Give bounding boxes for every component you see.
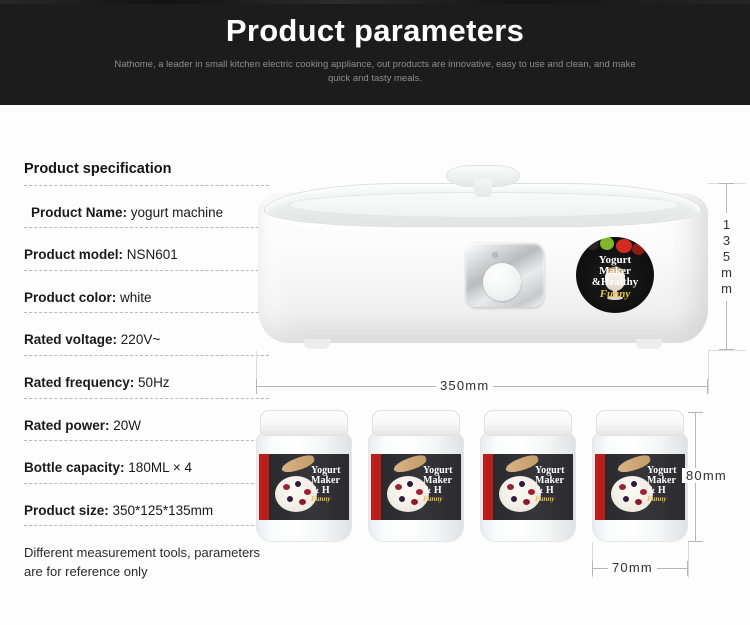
specification-list: Product specification Product Name: yogu… (24, 160, 269, 582)
spec-divider (24, 185, 269, 186)
sticker-berry-icon (586, 239, 599, 250)
dim-ext-bottom (708, 350, 746, 351)
spec-value-bottle-capacity: 180ML × 4 (128, 460, 192, 475)
spec-label-bottle-capacity: Bottle capacity: (24, 460, 125, 475)
spec-value-rated-frequency: 50Hz (138, 375, 170, 390)
jar-label-text: Yogurt Maker & H Funny (311, 466, 340, 503)
spec-label-product-color: Product color: (24, 290, 116, 305)
jar-label-berry-icon (523, 499, 530, 505)
spec-divider (24, 398, 269, 399)
jar-label-line-4: Funny (423, 496, 452, 503)
jar-label-berry-icon (399, 496, 405, 502)
dim-label-jar-height: 80mm (682, 468, 731, 483)
spec-row-rated-frequency: Rated frequency: 50Hz (24, 374, 269, 399)
spec-row-product-size: Product size: 350*125*135mm (24, 502, 269, 527)
product-parameters-page: Product parameters Nathome, a leader in … (0, 0, 750, 625)
jar-label-text: Yogurt Maker & H Funny (423, 466, 452, 503)
jar-label-berry-icon (507, 484, 514, 490)
spec-heading: Product specification (24, 160, 269, 179)
dim-label-unit-height: 135mm (719, 213, 734, 301)
spec-label-product-name: Product Name: (31, 205, 127, 220)
sticker-line-3: &Healthy (576, 277, 654, 288)
sticker-kiwi-icon (600, 237, 614, 250)
page-header: Product parameters Nathome, a leader in … (0, 0, 750, 105)
yogurt-maker-unit: Yogurt Maker &Healthy Funny (258, 165, 708, 360)
jar-lid (260, 410, 348, 436)
dim-tick-right (707, 379, 708, 394)
control-panel[interactable] (466, 243, 544, 307)
jar-label-berry-icon (411, 499, 418, 505)
jar-label-berry-icon (299, 499, 306, 505)
unit-foot-left (304, 339, 330, 349)
dim-ext-jar-right (688, 542, 689, 578)
sticker-text: Yogurt Maker &Healthy Funny (576, 255, 654, 300)
unit-foot-right (636, 339, 662, 349)
jar-label-berry-icon (304, 489, 311, 495)
dim-tick-left (256, 379, 257, 394)
dim-tick-top (719, 183, 734, 184)
jar-label-berry-icon (519, 481, 525, 487)
yogurt-jar: Yogurt Maker & H Funny (480, 410, 576, 548)
yogurt-jar: Yogurt Maker & H Funny (256, 410, 352, 548)
product-image-stage: Yogurt Maker &Healthy Funny 135mm 350mm (240, 105, 750, 625)
product-sticker: Yogurt Maker &Healthy Funny (576, 237, 654, 313)
dim-tick-jar-top (688, 412, 703, 413)
spec-row-product-model: Product model: NSN601 (24, 246, 269, 271)
jar-label-text: Yogurt Maker & H Funny (535, 466, 564, 503)
jar-lid (372, 410, 460, 436)
spec-label-rated-power: Rated power: (24, 418, 110, 433)
jar-label-berry-icon (295, 481, 301, 487)
power-indicator-led (492, 252, 498, 258)
power-button[interactable] (483, 263, 521, 301)
yogurt-jar: Yogurt Maker & H Funny (592, 410, 688, 548)
spec-row-product-color: Product color: white (24, 289, 269, 314)
spec-row-product-name: Product Name: yogurt machine (24, 204, 269, 229)
jar-label: Yogurt Maker & H Funny (371, 454, 461, 520)
spec-label-product-size: Product size: (24, 503, 109, 518)
spec-value-product-color: white (120, 290, 152, 305)
spec-label-rated-frequency: Rated frequency: (24, 375, 134, 390)
jar-label-berry-icon (640, 489, 647, 495)
jar-label-berry-icon (528, 489, 535, 495)
spec-label-product-model: Product model: (24, 247, 123, 262)
dim-tick-jar-bottom (688, 541, 703, 542)
jar-lid (484, 410, 572, 436)
dim-tick-jar-right (687, 561, 688, 576)
dim-label-unit-width: 350mm (436, 378, 493, 393)
spec-divider (24, 227, 269, 228)
page-subtitle: Nathome, a leader in small kitchen elect… (105, 58, 645, 86)
spec-row-bottle-capacity: Bottle capacity: 180ML × 4 (24, 459, 269, 484)
jar-label: Yogurt Maker & H Funny (483, 454, 573, 520)
spec-divider (24, 525, 269, 526)
unit-lid-knob-stem (474, 179, 492, 197)
spec-heading-row: Product specification (24, 160, 269, 186)
spec-label-rated-voltage: Rated voltage: (24, 332, 117, 347)
jar-label-berry-icon (511, 496, 517, 502)
jar-label-line-4: Funny (647, 496, 676, 503)
jar-label-berry-icon (623, 496, 629, 502)
jar-label-berry-icon (395, 484, 402, 490)
spec-value-rated-power: 20W (113, 418, 141, 433)
spec-divider (24, 440, 269, 441)
jar-label-line-4: Funny (535, 496, 564, 503)
dim-ext-right (708, 351, 709, 393)
spec-value-product-size: 350*125*135mm (113, 503, 214, 518)
spec-divider (24, 355, 269, 356)
jar-label: Yogurt Maker & H Funny (595, 454, 685, 520)
jar-label-berry-icon (631, 481, 637, 487)
spec-row-rated-voltage: Rated voltage: 220V~ (24, 331, 269, 356)
jar-label-berry-icon (635, 499, 642, 505)
spec-divider (24, 270, 269, 271)
jar-label-berry-icon (416, 489, 423, 495)
jar-label-berry-icon (287, 496, 293, 502)
jar-lid (596, 410, 684, 436)
spec-disclaimer-note: Different measurement tools, parameters … (24, 544, 269, 582)
spec-value-product-name: yogurt machine (131, 205, 223, 220)
spec-row-rated-power: Rated power: 20W (24, 417, 269, 442)
dim-tick-jar-left (592, 561, 593, 576)
sticker-strawberry-icon (616, 239, 632, 253)
jar-label-berry-icon (283, 484, 290, 490)
dim-tick-bottom (719, 349, 734, 350)
spec-divider (24, 483, 269, 484)
yogurt-jar-row: Yogurt Maker & H Funny (256, 410, 696, 560)
yogurt-jar: Yogurt Maker & H Funny (368, 410, 464, 548)
jar-label-berry-icon (407, 481, 413, 487)
jar-label-text: Yogurt Maker & H Funny (647, 466, 676, 503)
jar-label-line-4: Funny (311, 496, 340, 503)
page-body: Product specification Product Name: yogu… (0, 105, 750, 625)
spec-value-rated-voltage: 220V~ (121, 332, 160, 347)
jar-label: Yogurt Maker & H Funny (259, 454, 349, 520)
sticker-cherry-icon (632, 243, 645, 255)
sticker-line-4: Funny (576, 289, 654, 300)
dim-label-jar-width: 70mm (608, 560, 657, 575)
spec-divider (24, 312, 269, 313)
spec-value-product-model: NSN601 (127, 247, 178, 262)
jar-label-berry-icon (619, 484, 626, 490)
page-title: Product parameters (226, 14, 524, 48)
